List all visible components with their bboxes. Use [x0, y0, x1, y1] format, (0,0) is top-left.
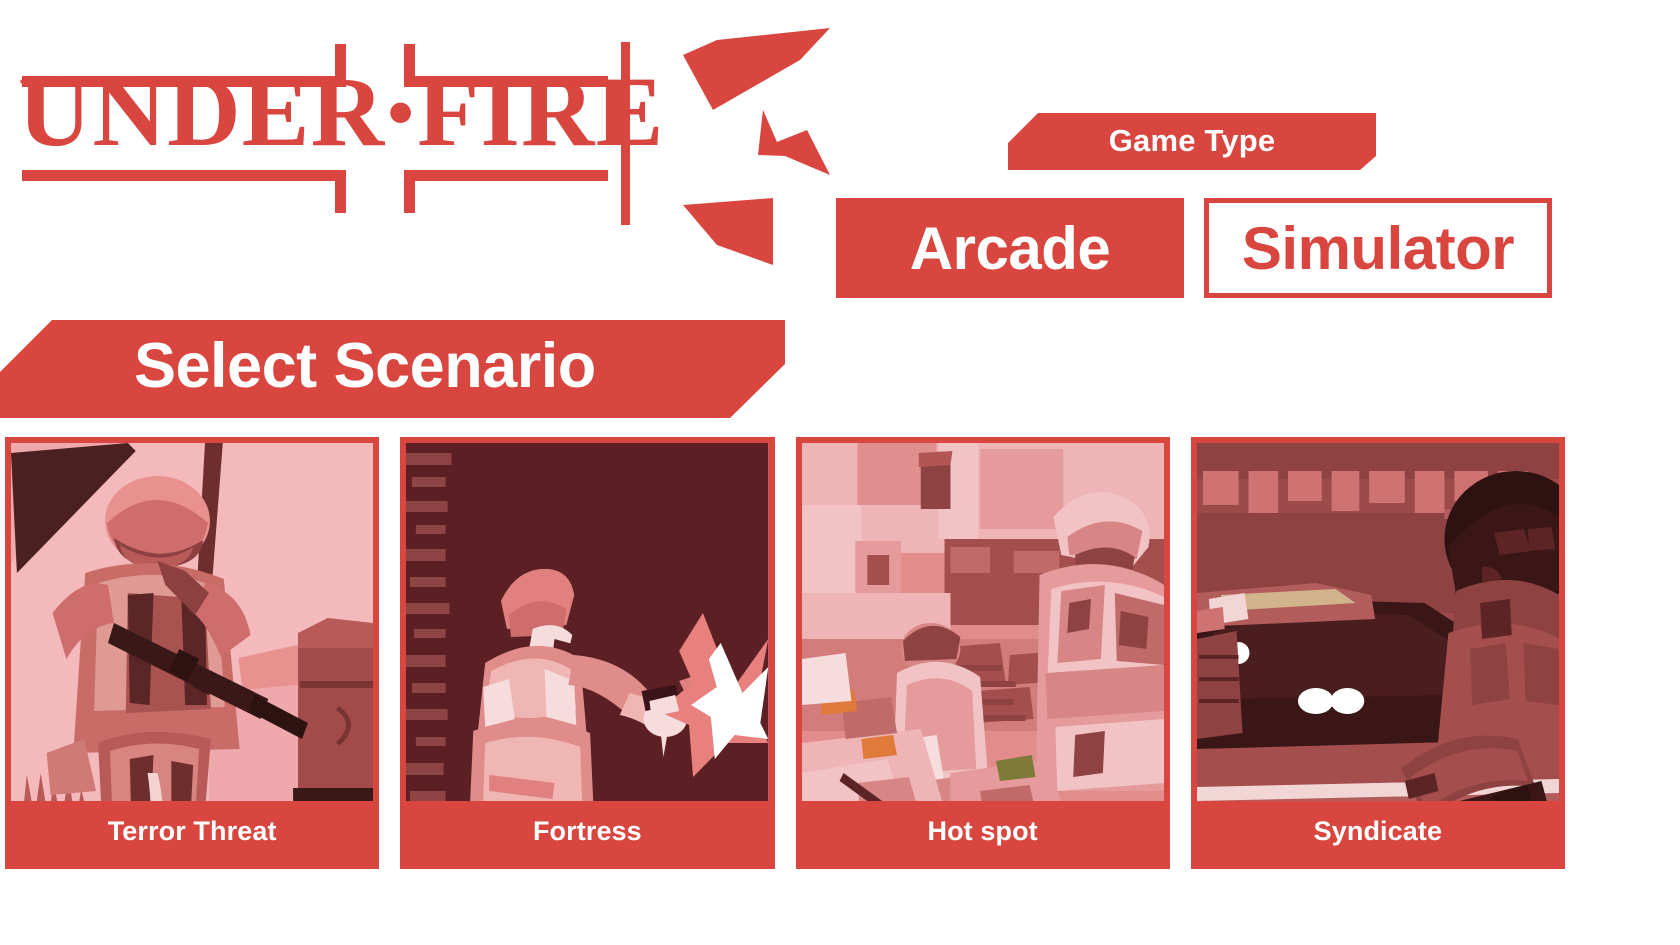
- game-type-option-arcade-label: Arcade: [910, 214, 1110, 283]
- logo-tick-bottom-right: [404, 170, 415, 213]
- scenario-art-fortress: [406, 443, 768, 863]
- scenario-card-list: Terror Threat: [5, 437, 1565, 869]
- scenario-card-label-fortress: Fortress: [406, 801, 768, 863]
- scenario-card-fortress[interactable]: Fortress: [400, 437, 774, 869]
- logo-rule-bottom-right: [404, 170, 608, 181]
- logo-tick-bottom-left: [335, 170, 346, 213]
- scenario-card-label-text: Fortress: [533, 816, 642, 847]
- scenario-card-label-terror-threat: Terror Threat: [11, 801, 373, 863]
- game-type-group: Game Type Arcade Simulator: [836, 113, 1556, 303]
- game-type-option-simulator[interactable]: Simulator: [1204, 198, 1552, 298]
- scenario-card-label-text: Terror Threat: [108, 816, 277, 847]
- scenario-card-label-text: Syndicate: [1314, 816, 1442, 847]
- logo-word-fire: FIRE: [417, 56, 664, 167]
- scenario-art-hot-spot: [802, 443, 1164, 863]
- game-type-options: Arcade Simulator: [836, 198, 1552, 298]
- logo-wordmark: UNDER•FIRE: [18, 62, 665, 163]
- game-type-option-arcade[interactable]: Arcade: [836, 198, 1184, 298]
- brand-logo: UNDER•FIRE: [0, 0, 660, 240]
- scenario-card-terror-threat[interactable]: Terror Threat: [5, 437, 379, 869]
- scenario-card-label-text: Hot spot: [927, 816, 1037, 847]
- scenario-card-label-syndicate: Syndicate: [1197, 801, 1559, 863]
- scenario-card-hot-spot[interactable]: Hot spot: [796, 437, 1170, 869]
- logo-word-under: UNDER: [18, 56, 385, 167]
- game-type-heading-banner: Game Type: [1008, 113, 1376, 170]
- scenario-card-label-hot-spot: Hot spot: [802, 801, 1164, 863]
- select-scenario-label: Select Scenario: [134, 330, 596, 402]
- logo-separator-dot: •: [385, 71, 417, 154]
- scenario-card-syndicate[interactable]: Syndicate: [1191, 437, 1565, 869]
- select-scenario-banner: Select Scenario: [0, 320, 785, 418]
- game-type-option-simulator-label: Simulator: [1242, 214, 1514, 283]
- scenario-art-terror-threat: [11, 443, 373, 863]
- logo-rule-bottom-left: [22, 170, 346, 181]
- game-type-heading-label: Game Type: [1109, 123, 1276, 159]
- scenario-art-syndicate: [1197, 443, 1559, 863]
- shrapnel-shards-icon: [655, 20, 865, 290]
